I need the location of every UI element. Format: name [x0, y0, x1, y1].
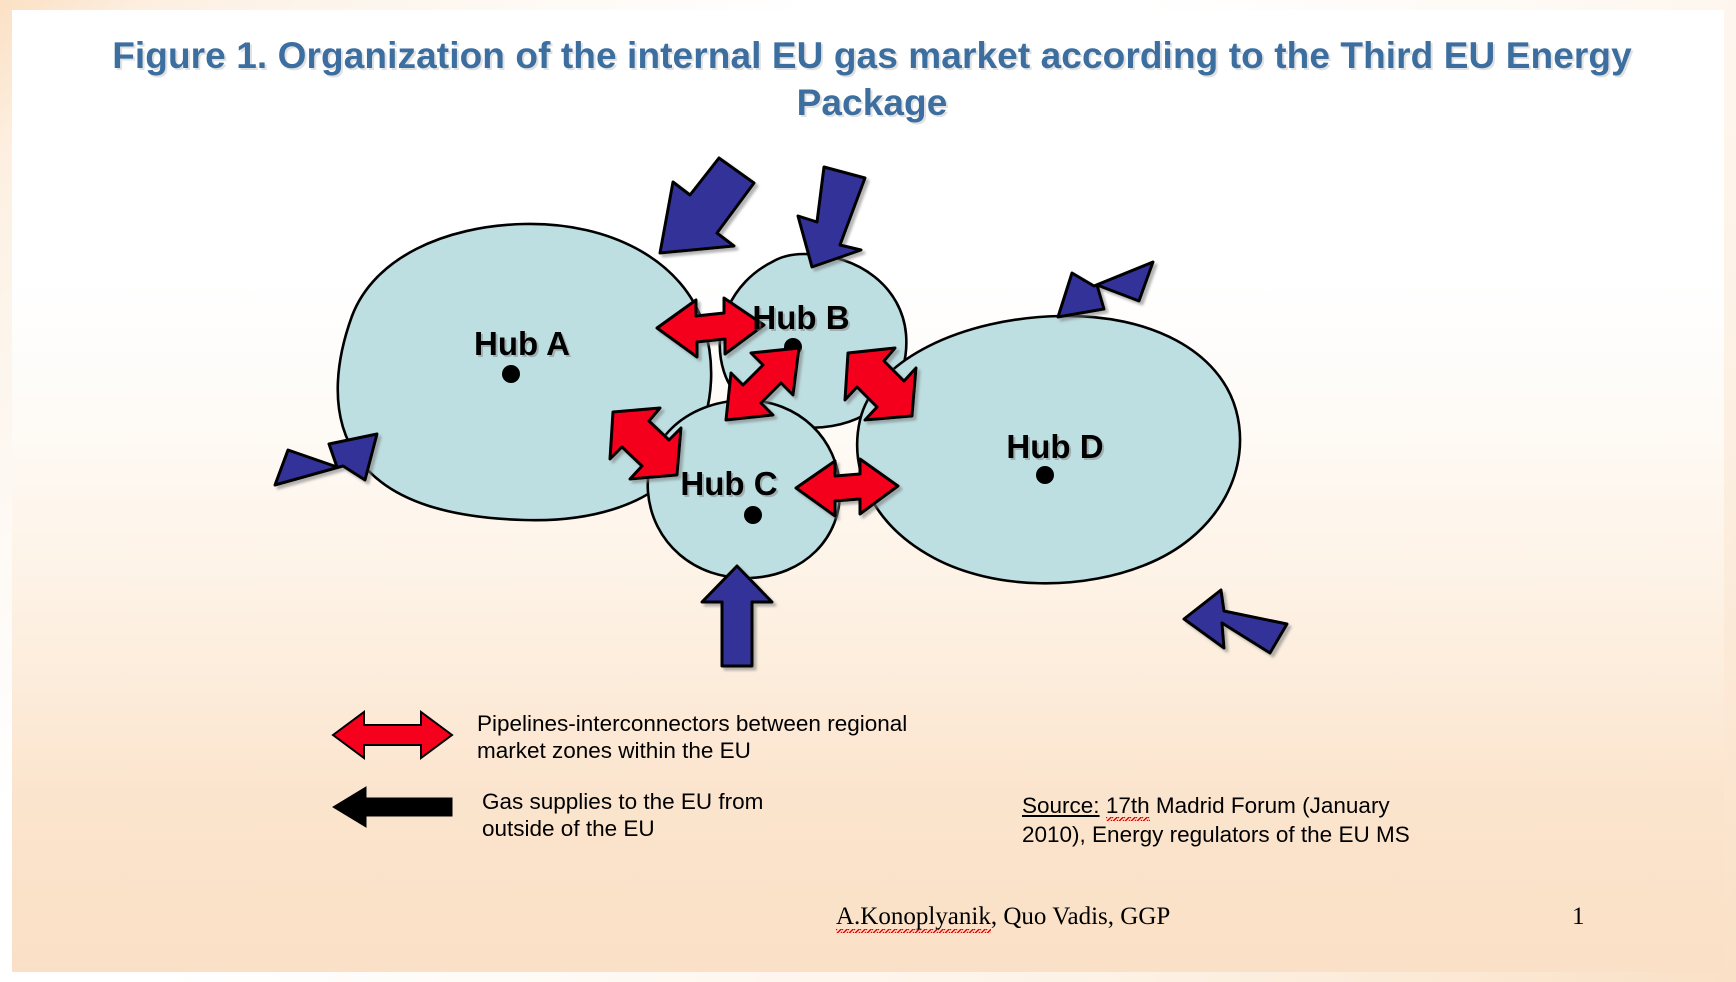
hub-dot-a — [502, 365, 520, 383]
legend-icon-interconnector-arrow — [330, 706, 455, 764]
source-line1: Source: 17th Madrid Forum (January — [1022, 792, 1482, 821]
source-label: Source: — [1022, 793, 1100, 818]
page-number: 1 — [1572, 903, 1585, 931]
supply-arrow-south-east[interactable] — [1184, 590, 1287, 653]
supply-arrow-east[interactable] — [1058, 262, 1153, 317]
legend-text-supply-line2: outside of the EU — [482, 815, 902, 842]
legend-text-interconnector-line2: market zones within the EU — [477, 737, 947, 764]
footer-rest: , Quo Vadis, GGP — [991, 903, 1170, 930]
hub-dot-d — [1036, 466, 1054, 484]
footer-author: A.Konoplyanik — [836, 903, 991, 933]
legend-text-supply-line1: Gas supplies to the EU from — [482, 788, 902, 815]
source-line2: 2010), Energy regulators of the EU MS — [1022, 821, 1482, 850]
footer-attribution: A.Konoplyanik, Quo Vadis, GGP — [836, 903, 1170, 931]
supply-arrow-south[interactable] — [702, 566, 772, 666]
source-note: Source: 17th Madrid Forum (January 2010)… — [1022, 792, 1482, 850]
source-text-after: Madrid Forum (January — [1150, 793, 1390, 818]
legend-text-supply: Gas supplies to the EU from outside of t… — [482, 788, 902, 843]
source-spellcheck-word: 17th — [1106, 793, 1150, 821]
supply-arrow-west[interactable] — [275, 434, 377, 485]
legend-text-interconnector: Pipelines-interconnectors between region… — [477, 710, 947, 765]
supply-arrow-north-west[interactable] — [660, 158, 754, 253]
supply-arrow-north-east[interactable] — [798, 167, 865, 267]
slide-canvas: Figure 1. Organization of the internal E… — [12, 10, 1724, 972]
slide: Figure 1. Organization of the internal E… — [0, 0, 1736, 982]
legend-icon-supply-arrow — [330, 785, 455, 829]
hub-dot-c — [744, 506, 762, 524]
hub-blob-d[interactable] — [857, 316, 1240, 583]
legend-text-interconnector-line1: Pipelines-interconnectors between region… — [477, 710, 947, 737]
hub-blob-group — [338, 224, 1240, 583]
